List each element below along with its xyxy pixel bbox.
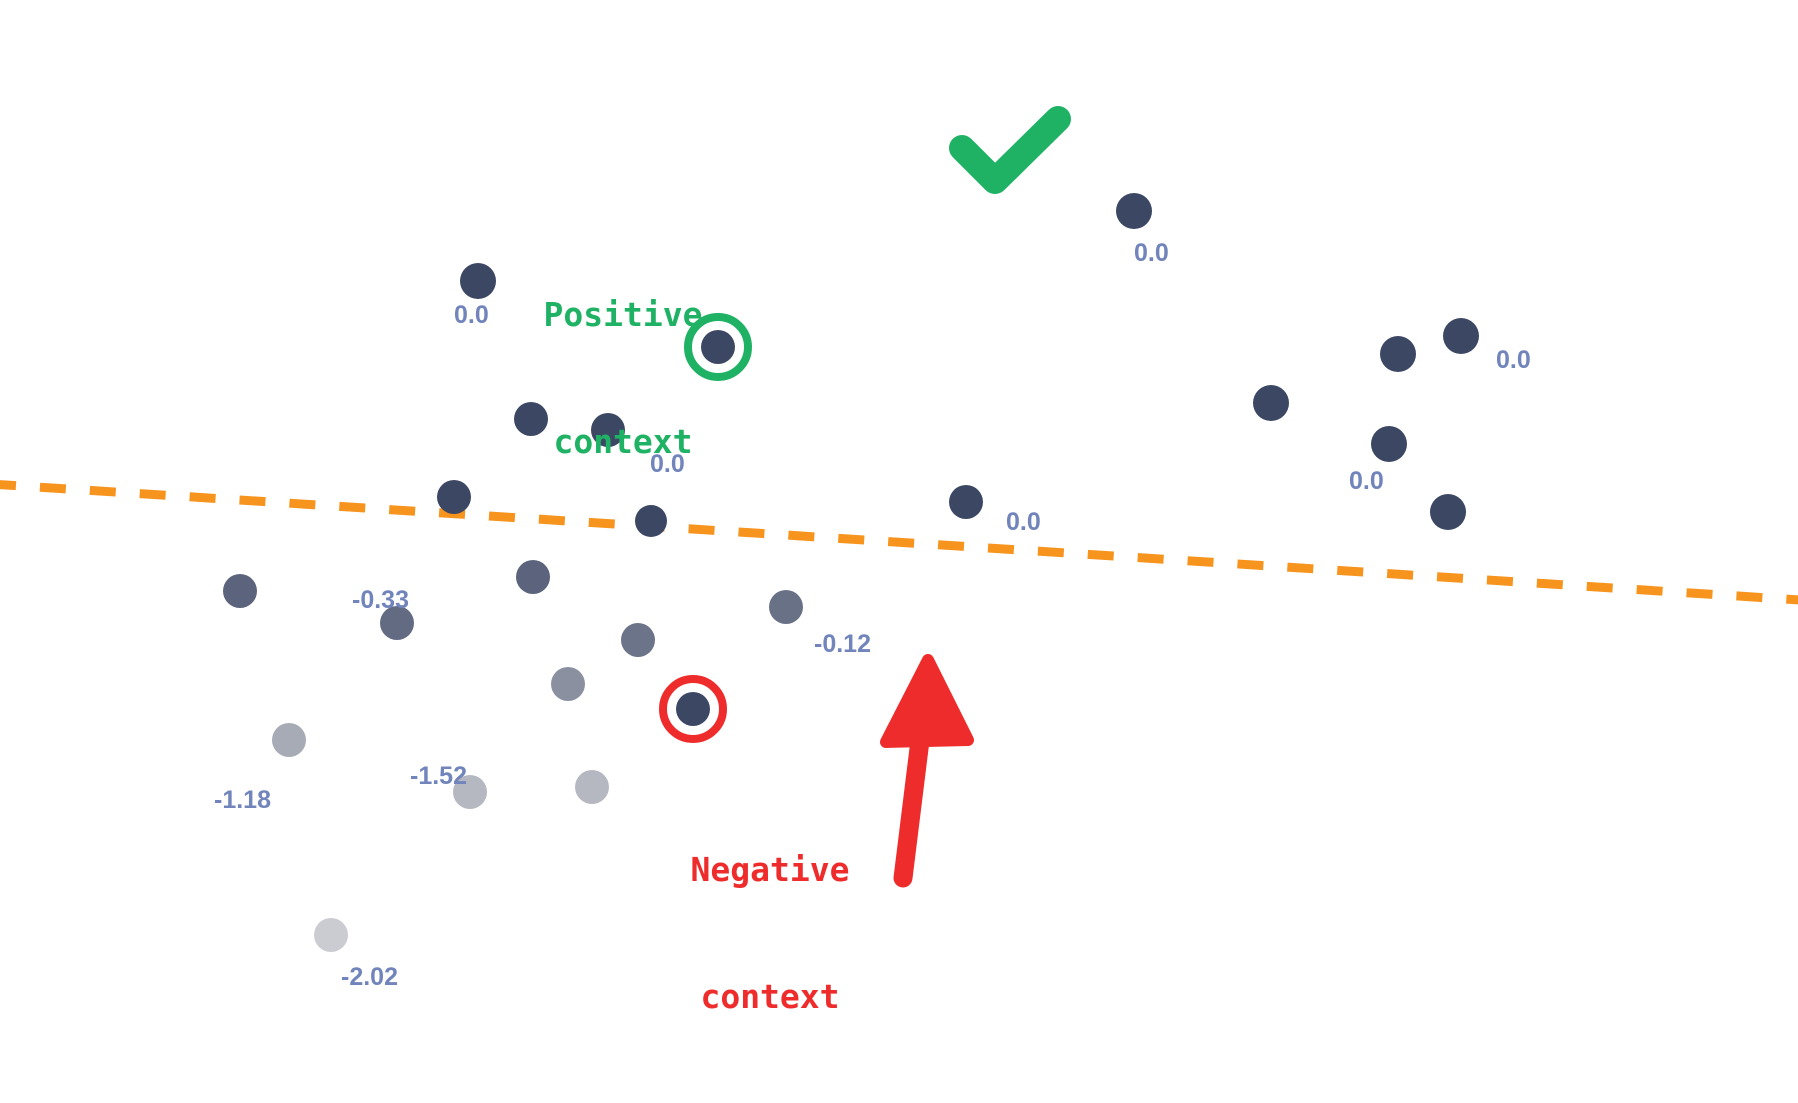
point-value-label: 0.0: [1496, 348, 1531, 373]
data-point[interactable]: [437, 480, 471, 514]
positive-context-line1: Positive: [483, 294, 763, 336]
data-point[interactable]: [314, 918, 348, 952]
positive-context-line2: context: [483, 421, 763, 463]
data-point[interactable]: [1430, 494, 1466, 530]
point-value-label: -2.02: [341, 965, 398, 990]
negative-context-annotation: Negative context: [630, 765, 910, 1103]
point-value-label: -1.18: [214, 788, 271, 813]
data-point[interactable]: [1371, 426, 1407, 462]
check-icon: [962, 119, 1058, 181]
boundary-dashed-line: [0, 484, 1798, 600]
data-point[interactable]: [516, 560, 550, 594]
negative-context-line2: context: [630, 976, 910, 1018]
data-point[interactable]: [621, 623, 655, 657]
point-value-label: -1.52: [410, 764, 467, 789]
data-point[interactable]: [223, 574, 257, 608]
point-value-label: -0.33: [352, 588, 409, 613]
data-point[interactable]: [1116, 193, 1152, 229]
negative-context-line1: Negative: [630, 849, 910, 891]
data-point[interactable]: [272, 723, 306, 757]
point-value-label: 0.0: [1006, 510, 1041, 535]
point-value-label: 0.0: [1134, 241, 1169, 266]
data-point[interactable]: [676, 692, 710, 726]
point-value-label: 0.0: [1349, 469, 1384, 494]
data-point[interactable]: [551, 667, 585, 701]
data-point[interactable]: [1380, 336, 1416, 372]
scatter-figure: 0.00.00.00.00.00.0-0.33-0.12-1.18-1.52-2…: [0, 0, 1798, 1056]
decision-boundary-line: [0, 484, 1798, 600]
data-point[interactable]: [949, 485, 983, 519]
data-point[interactable]: [1253, 385, 1289, 421]
positive-context-annotation: Positive context: [483, 210, 763, 548]
data-point[interactable]: [575, 770, 609, 804]
data-point[interactable]: [769, 590, 803, 624]
data-point[interactable]: [1443, 318, 1479, 354]
point-value-label: -0.12: [814, 632, 871, 657]
